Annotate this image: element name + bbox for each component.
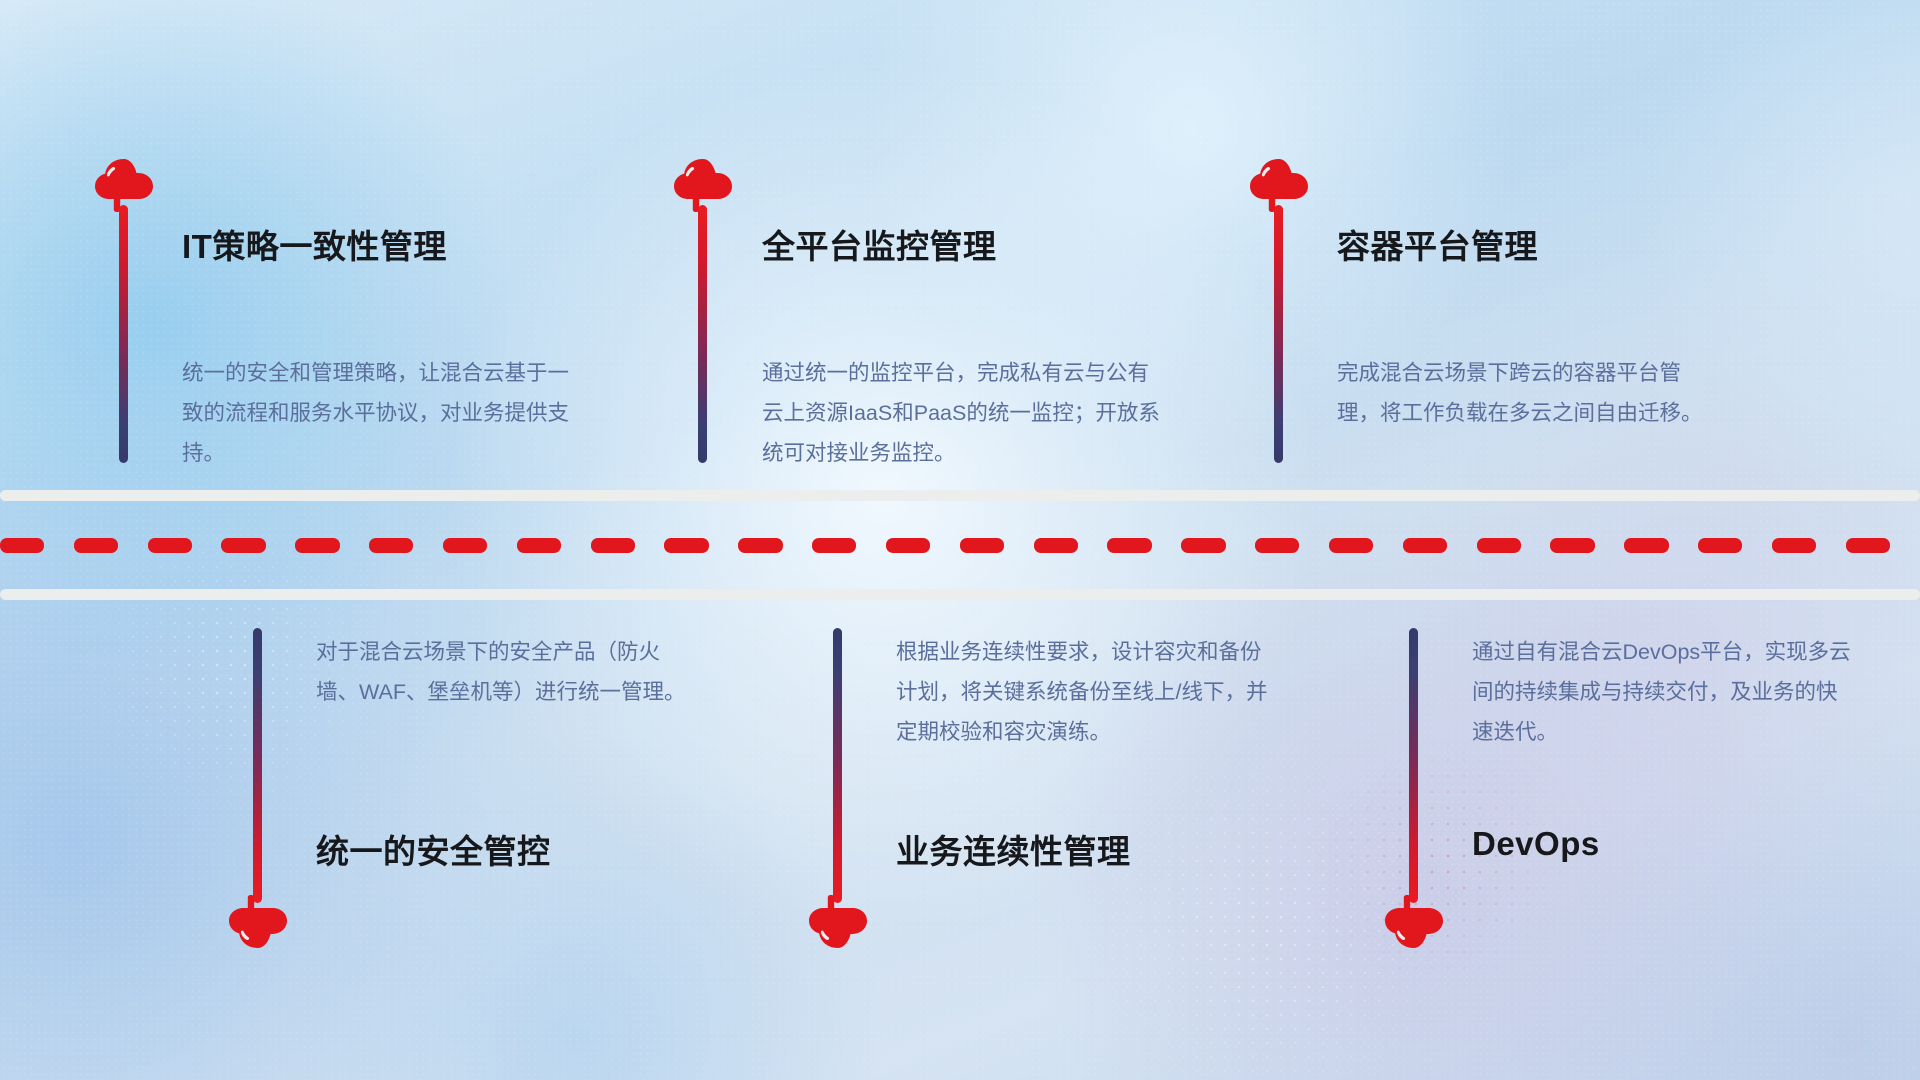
cloud-icon (227, 895, 289, 949)
road-dash-segment (1107, 538, 1151, 553)
card-heading: 全平台监控管理 (762, 220, 997, 268)
road-dash-segment (886, 538, 930, 553)
card-body: 通过统一的监控平台，完成私有云与公有云上资源IaaS和PaaS的统一监控；开放系… (762, 353, 1162, 473)
connector-stem (833, 628, 842, 903)
connector-stem (1409, 628, 1418, 903)
road-dash-segment (591, 538, 635, 553)
road-dash-segment (1698, 538, 1742, 553)
card-body: 通过自有混合云DevOps平台，实现多云间的持续集成与持续交付，及业务的快速迭代… (1472, 632, 1857, 752)
road-dash-segment (0, 538, 44, 553)
road-dash-segment (1255, 538, 1299, 553)
road-dashes (0, 538, 1920, 553)
road-dash-segment (74, 538, 118, 553)
connector-stem (698, 205, 707, 463)
road-dash-segment (960, 538, 1004, 553)
road-edge-bottom (0, 589, 1920, 600)
road-dash-segment (148, 538, 192, 553)
road-dash-segment (517, 538, 561, 553)
card-body: 对于混合云场景下的安全产品（防火墙、WAF、堡垒机等）进行统一管理。 (316, 632, 701, 712)
cloud-icon (1248, 158, 1310, 212)
road-dash-segment (664, 538, 708, 553)
road-dash-segment (1034, 538, 1078, 553)
road-dash-segment (812, 538, 856, 553)
road-dash-segment (369, 538, 413, 553)
card-heading: 容器平台管理 (1337, 220, 1538, 268)
cloud-icon (672, 158, 734, 212)
card-heading: DevOps (1472, 825, 1600, 863)
card-heading: IT策略一致性管理 (182, 220, 447, 268)
connector-stem (253, 628, 262, 903)
road-dash-segment (1403, 538, 1447, 553)
road-dash-segment (1477, 538, 1521, 553)
cloud-icon (93, 158, 155, 212)
cloud-icon (1383, 895, 1445, 949)
road-dash-segment (1624, 538, 1668, 553)
connector-stem (119, 205, 128, 463)
card-body: 统一的安全和管理策略，让混合云基于一致的流程和服务水平协议，对业务提供支持。 (182, 353, 582, 473)
road-dash-segment (443, 538, 487, 553)
road-dash-segment (221, 538, 265, 553)
card-heading: 业务连续性管理 (896, 825, 1131, 873)
road-edge-top (0, 490, 1920, 501)
cloud-icon (807, 895, 869, 949)
road-dash-segment (1846, 538, 1890, 553)
road-dash-segment (738, 538, 782, 553)
card-heading: 统一的安全管控 (316, 825, 551, 873)
road-dash-segment (295, 538, 339, 553)
infographic-canvas: IT策略一致性管理 统一的安全和管理策略，让混合云基于一致的流程和服务水平协议，… (0, 0, 1920, 1080)
road-dash-segment (1550, 538, 1594, 553)
road-dash-segment (1181, 538, 1225, 553)
road-dash-segment (1772, 538, 1816, 553)
card-body: 根据业务连续性要求，设计容灾和备份计划，将关键系统备份至线上/线下，并定期校验和… (896, 632, 1281, 752)
connector-stem (1274, 205, 1283, 463)
road-dash-segment (1329, 538, 1373, 553)
road-divider (0, 490, 1920, 600)
card-body: 完成混合云场景下跨云的容器平台管理，将工作负载在多云之间自由迁移。 (1337, 353, 1722, 433)
